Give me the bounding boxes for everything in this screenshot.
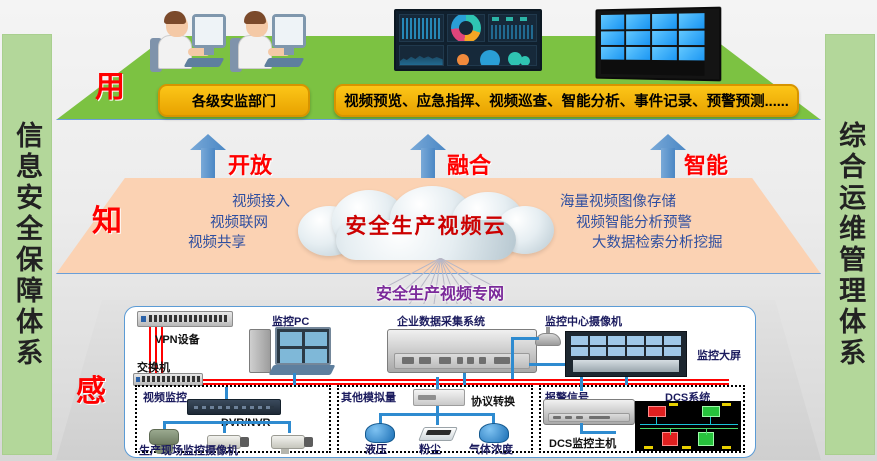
device-label-hydraulic: 液压 (365, 441, 387, 457)
operators-illustration (148, 8, 308, 80)
dcs-host-icon (543, 399, 635, 425)
cloud-right-features: 海量视频图像存储 视频智能分析预警 大数据检索分析挖掘 (560, 192, 775, 254)
bigscreen-uplink (625, 377, 628, 385)
bullet-camera-icon-2 (271, 431, 315, 455)
desktop-monitor-icon (272, 14, 306, 48)
device-label-vpn: VPN设备 (155, 331, 200, 347)
converter-uplink (436, 377, 439, 389)
right-banner: 综合运维管理体系 (825, 34, 875, 455)
monitor-stand (284, 48, 294, 55)
vpn-device-icon (137, 311, 233, 327)
operator-person-2 (228, 8, 306, 80)
protocol-converter-icon (413, 389, 465, 406)
gas-sensor-icon (479, 423, 509, 443)
pc-monitor-icon (275, 327, 331, 365)
video-wall-display (595, 7, 721, 82)
layer-tag-platform: 知 (92, 196, 122, 240)
arrow-fusion (410, 134, 446, 178)
cloud-left-features: 视频接入 视频联网 视频共享 (128, 192, 290, 254)
pc-tower-icon (249, 329, 271, 373)
device-label-site-cameras: 生产现场监控摄像机 (139, 442, 238, 458)
dashboard-area-chart-panel (399, 45, 444, 66)
desktop-monitor-icon (192, 14, 226, 48)
dcs-host-link (580, 431, 616, 434)
alarm-uplink (580, 377, 583, 391)
network-label: 安全生产视频专网 (330, 280, 550, 304)
camera-link-vertical (511, 337, 514, 379)
cloud-title: 安全生产视频云 (292, 210, 560, 240)
dept-box[interactable]: 各级安监部门 (158, 84, 310, 117)
control-room-screen-icon (565, 331, 687, 377)
camera-link-horizontal (511, 337, 539, 340)
device-label-data-acquisition: 企业数据采集系统 (397, 313, 485, 329)
dashboard-bubble-panel (447, 45, 537, 66)
cloud-feature-right-2: 视频智能分析预警 (576, 213, 775, 234)
cloud-feature-right-1: 海量视频图像存储 (560, 192, 775, 213)
keyboard-icon (264, 58, 305, 67)
cloud-feature-left-1: 视频接入 (128, 192, 290, 213)
group-title-analog: 其他模拟量 (341, 389, 396, 405)
acquisition-uplink (463, 373, 466, 385)
dashboard-donut-panel (447, 14, 485, 42)
arrow-open (190, 134, 226, 178)
video-cloud-shape: 安全生产视频云 (292, 186, 560, 260)
keyboard-icon (184, 58, 225, 67)
arrow-label-open: 开放 (228, 148, 272, 180)
left-banner: 信息安全保障体系 (2, 34, 52, 455)
diagram-canvas: 信息安全保障体系 综合运维管理体系 用 知 感 (0, 0, 877, 461)
arrow-intelligent (650, 134, 686, 178)
device-label-dcs-host: DCS监控主机 (549, 435, 616, 451)
dashboard-table-panel (399, 14, 444, 42)
dcs-schematic-icon (635, 401, 741, 451)
dvr-uplink (225, 387, 228, 399)
layer-tag-perception: 感 (76, 366, 106, 410)
cloud-feature-left-3: 视频共享 (128, 233, 246, 254)
dashboard-scatter-panel (488, 14, 537, 42)
hydraulic-sensor-icon (365, 423, 395, 443)
operator-person-1 (148, 8, 226, 80)
monitor-stand (204, 48, 214, 55)
pc-uplink (293, 373, 296, 385)
analytics-dashboard-screen (394, 9, 542, 71)
arrow-label-fusion: 融合 (447, 148, 491, 180)
device-label-switch: 交换机 (137, 359, 170, 375)
infrastructure-panel: VPN设备 交换机 监控PC 企业数据采集系统 监控中心摄 (124, 306, 756, 458)
device-label-protocol-converter: 协议转换 (471, 393, 515, 409)
person-hair (164, 11, 186, 24)
function-box[interactable]: 视频预览、应急指挥、视频巡查、智能分析、事件记录、预警预测...... (334, 84, 799, 117)
cloud-feature-right-3: 大数据检索分析挖掘 (592, 233, 775, 254)
device-label-dust: 粉尘 (419, 441, 441, 457)
person-hair (244, 11, 266, 24)
arrow-label-intelligent: 智能 (684, 148, 728, 180)
dust-sensor-icon (418, 427, 458, 441)
device-label-big-screen: 监控大屏 (697, 347, 741, 363)
dvr-nvr-icon (187, 399, 281, 415)
pc-keyboard-icon (269, 365, 336, 375)
cloud-feature-left-2: 视频联网 (128, 213, 268, 234)
data-acquisition-server-icon (387, 329, 537, 373)
layer-tag-application: 用 (95, 62, 125, 106)
dome-camera-icon (535, 327, 563, 349)
group-title-video-surveillance: 视频监控 (143, 389, 187, 405)
device-label-gas: 气体浓度 (469, 441, 513, 457)
camera-bus (163, 421, 291, 424)
sensor-drop-2 (436, 413, 439, 425)
